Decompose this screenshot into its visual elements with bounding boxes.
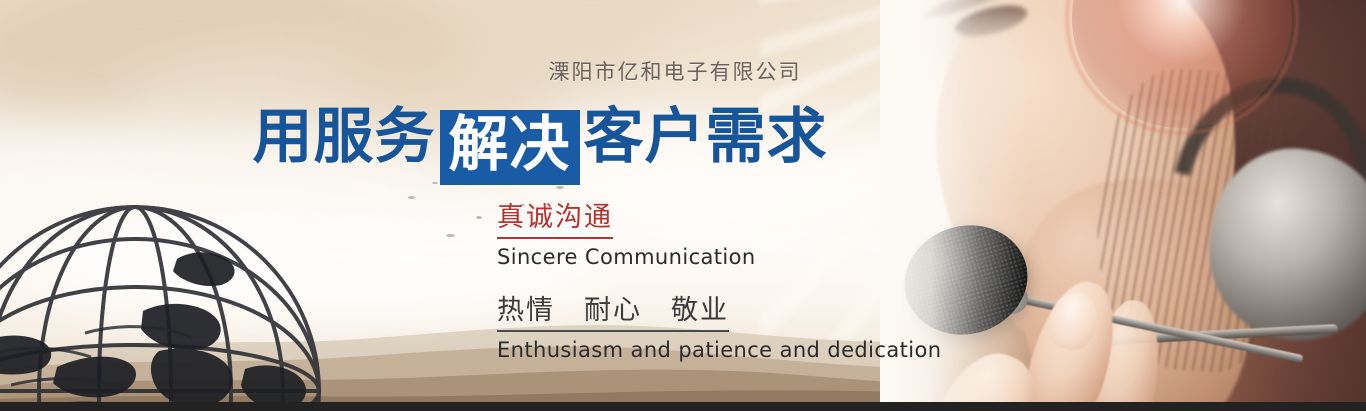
company-name: 溧阳市亿和电子有限公司 bbox=[0, 56, 1366, 86]
slogan-cn-text: 热情 耐心 敬业 bbox=[497, 293, 729, 332]
headline-highlight-text: 解决 bbox=[440, 110, 580, 185]
promo-banner: 溧阳市亿和电子有限公司 用服务解决客户需求 真诚沟通 Sincere Commu… bbox=[0, 0, 1366, 411]
headline-after-text: 客户需求 bbox=[584, 102, 828, 172]
slogan-en-text: Enthusiasm and patience and dedication bbox=[497, 335, 1017, 365]
page-title: 用服务解决客户需求 bbox=[0, 100, 1366, 185]
slogan-block: 真诚沟通 Sincere Communication 热情 耐心 敬业 Enth… bbox=[497, 200, 1017, 365]
slogan-cn-text: 真诚沟通 bbox=[497, 200, 613, 239]
slogan-row: 热情 耐心 敬业 Enthusiasm and patience and ded… bbox=[497, 293, 1017, 365]
bottom-bar bbox=[0, 402, 1366, 411]
company-name-text: 溧阳市亿和电子有限公司 bbox=[549, 60, 802, 84]
slogan-en-text: Sincere Communication bbox=[497, 242, 1017, 272]
headline-before-text: 用服务 bbox=[253, 102, 436, 172]
slogan-row: 真诚沟通 Sincere Communication bbox=[497, 200, 1017, 272]
